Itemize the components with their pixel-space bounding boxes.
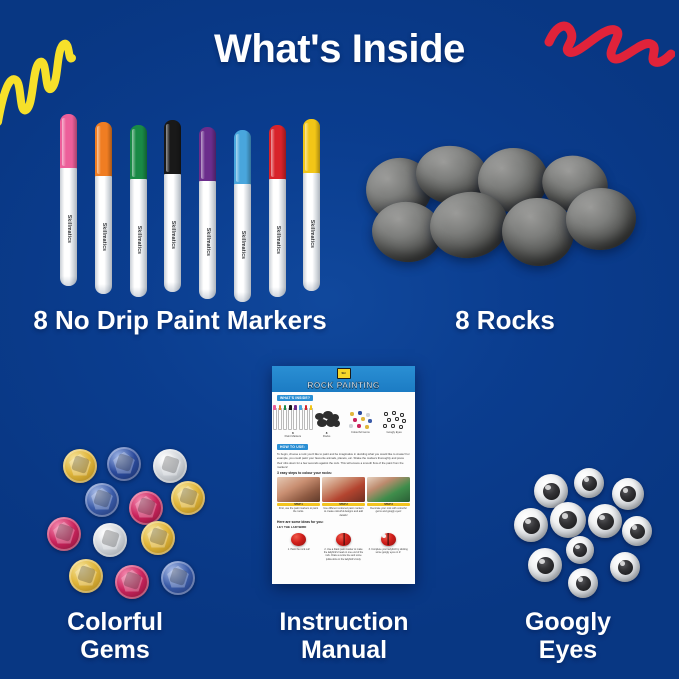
manual-caption: Instruction Manual	[252, 608, 436, 664]
manual-inside-item: Colourful Gems	[345, 404, 375, 438]
manual-inside-item: 8 Paint Markers	[278, 404, 308, 438]
gem	[115, 565, 149, 599]
paint-markers-group: Skillmatics Skillmatics Skillmatics Skil…	[60, 108, 340, 288]
manual-item-label: Googly Eyes	[379, 431, 409, 434]
manual-idea-step: 1. Paint the rock red!	[278, 530, 320, 561]
paint-marker: Skillmatics	[199, 127, 216, 299]
marker-brand-label: Skillmatics	[170, 221, 176, 249]
manual-caption-line1: Instruction	[252, 608, 436, 636]
manual-item-label: Colourful Gems	[345, 431, 375, 434]
marker-cap	[60, 114, 77, 170]
marker-brand-label: Skillmatics	[275, 226, 281, 254]
marker-cap	[269, 125, 286, 181]
manual-step-photo	[367, 477, 410, 502]
googly-eye	[588, 504, 622, 538]
paint-marker: Skillmatics	[95, 122, 112, 294]
marker-cap	[199, 127, 216, 183]
eyes-caption-line1: Googly	[458, 608, 678, 636]
googly-eye	[622, 516, 652, 546]
manual-cover-title: ROCK PAINTING	[307, 380, 380, 390]
markers-caption: 8 No Drip Paint Markers	[0, 306, 360, 335]
marker-brand-label: Skillmatics	[240, 231, 246, 259]
manual-gems-icon	[345, 404, 375, 430]
manual-idea-step-text: 2. Use a black paint marker to make the …	[323, 548, 365, 561]
manual-step-photo	[277, 477, 320, 502]
gem	[161, 561, 195, 595]
gem	[129, 491, 163, 525]
marker-body: Skillmatics	[234, 184, 251, 302]
manual-inside-items-row: 8 Paint Markers 8 Rocks	[272, 403, 415, 440]
marker-brand-label: Skillmatics	[101, 223, 107, 251]
manual-item-label: Rocks	[312, 435, 342, 438]
manual-intro-paragraph: To begin, choose a rock you'd like to pa…	[272, 452, 415, 469]
manual-eyes-icon	[379, 404, 409, 430]
marker-cap	[164, 120, 181, 176]
manual-caption-line2: Manual	[252, 636, 436, 664]
manual-step-text: Decorate your rock with colourful gems a…	[367, 507, 410, 514]
gem	[63, 449, 97, 483]
manual-step-text: First, use the paint markers to paint th…	[277, 507, 320, 514]
gem	[141, 521, 175, 555]
gem	[153, 449, 187, 483]
googly-eye	[574, 468, 604, 498]
manual-step: STEP 2 Use different coloured paint mark…	[322, 477, 365, 517]
manual-inside-item: Googly Eyes	[379, 404, 409, 438]
manual-step-pill: STEP 3	[367, 503, 410, 507]
manual-steps-row: STEP 1 First, use the paint markers to p…	[272, 477, 415, 517]
marker-brand-label: Skillmatics	[309, 220, 315, 248]
paint-marker: Skillmatics	[130, 125, 147, 297]
rocks-group	[360, 140, 650, 290]
marker-body: Skillmatics	[303, 173, 320, 291]
googly-eye	[612, 478, 644, 510]
paint-marker: Skillmatics	[269, 125, 286, 297]
googly-eye	[514, 508, 548, 542]
marker-body: Skillmatics	[199, 181, 216, 299]
manual-steps-heading: 3 easy steps to colour your rocks:	[272, 469, 415, 477]
manual-step: STEP 1 First, use the paint markers to p…	[277, 477, 320, 517]
manual-idea-step-text: 1. Paint the rock red!	[278, 548, 320, 551]
manual-idea-step: 2. Use a black paint marker to make the …	[323, 530, 365, 561]
marker-cap	[95, 122, 112, 178]
manual-step-text: Use different coloured paint markers to …	[322, 507, 365, 517]
marker-brand-label: Skillmatics	[66, 215, 72, 243]
marker-cap	[234, 130, 251, 186]
gem	[85, 483, 119, 517]
gem	[47, 517, 81, 551]
gem	[69, 559, 103, 593]
googly-eye	[566, 536, 594, 564]
gem	[107, 447, 141, 481]
gem	[93, 523, 127, 557]
manual-step: STEP 3 Decorate your rock with colourful…	[367, 477, 410, 517]
manual-markers-icon	[278, 404, 308, 430]
gem	[171, 481, 205, 515]
gems-caption-line2: Gems	[0, 636, 230, 664]
marker-brand-label: Skillmatics	[136, 226, 142, 254]
marker-body: Skillmatics	[164, 174, 181, 292]
marker-cap	[303, 119, 320, 175]
marker-body: Skillmatics	[60, 168, 77, 286]
manual-step-photo	[322, 477, 365, 502]
googly-eyes-group	[498, 468, 666, 596]
googly-eye	[528, 548, 562, 582]
manual-step-pill: STEP 1	[277, 503, 320, 507]
manual-inside-item: 8 Rocks	[312, 404, 342, 438]
manual-idea-step: 3. Complete your ladybird by sticking so…	[367, 530, 409, 561]
paint-marker: Skillmatics	[303, 119, 320, 291]
ladybird-icon	[323, 530, 365, 548]
marker-body: Skillmatics	[95, 176, 112, 294]
googly-eye	[568, 568, 598, 598]
gems-caption-line1: Colorful	[0, 608, 230, 636]
eyes-caption: Googly Eyes	[458, 608, 678, 664]
manual-ideas-heading: Here are some ideas for you:	[272, 517, 415, 525]
paint-marker: Skillmatics	[234, 130, 251, 302]
marker-body: Skillmatics	[269, 179, 286, 297]
instruction-manual-page: Skl ROCK PAINTING WHAT'S INSIDE?	[272, 366, 415, 584]
marker-brand-label: Skillmatics	[205, 228, 211, 256]
manual-idea-steps-row: 1. Paint the rock red! 2. Use a black pa…	[272, 530, 415, 561]
googly-eye	[610, 552, 640, 582]
manual-header: Skl ROCK PAINTING	[272, 366, 415, 392]
ladybird-icon	[367, 530, 409, 548]
gems-caption: Colorful Gems	[0, 608, 230, 664]
eyes-caption-line2: Eyes	[458, 636, 678, 664]
page-title: What's Inside	[0, 27, 679, 72]
ladybird-icon	[278, 530, 320, 548]
manual-rocks-icon	[312, 404, 342, 430]
infographic-canvas: What's Inside Skillmatics Skillmatics Sk…	[0, 0, 679, 679]
manual-idea-step-text: 3. Complete your ladybird by sticking so…	[367, 548, 409, 554]
rocks-caption: 8 Rocks	[360, 306, 650, 335]
manual-section-how-to-use: HOW TO USE:	[277, 444, 308, 450]
manual-item-label: Paint Markers	[278, 435, 308, 438]
marker-cap	[130, 125, 147, 181]
manual-section-whats-inside: WHAT'S INSIDE?	[277, 395, 313, 401]
marker-body: Skillmatics	[130, 179, 147, 297]
gems-group	[45, 445, 230, 595]
googly-eye	[550, 502, 586, 538]
manual-step-pill: STEP 2	[322, 503, 365, 507]
paint-marker: Skillmatics	[60, 114, 77, 286]
manual-brand-logo-icon: Skl	[337, 368, 351, 379]
paint-marker: Skillmatics	[164, 120, 181, 292]
